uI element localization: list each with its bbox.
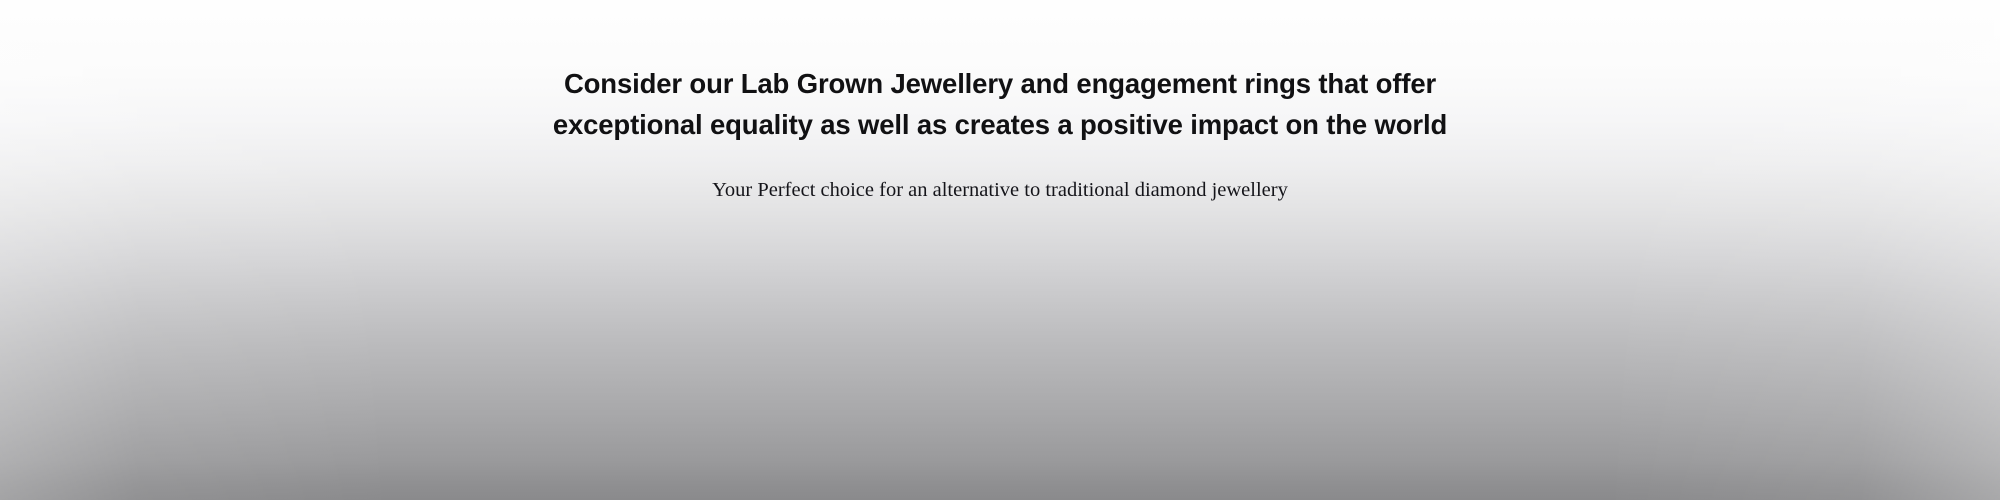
hero-banner: Consider our Lab Grown Jewellery and eng… bbox=[0, 0, 2000, 500]
hero-heading: Consider our Lab Grown Jewellery and eng… bbox=[500, 63, 1500, 145]
hero-heading-line-1: Consider our Lab Grown Jewellery and eng… bbox=[500, 63, 1500, 104]
hero-banner-inner: Consider our Lab Grown Jewellery and eng… bbox=[0, 0, 2000, 500]
hero-heading-line-2: exceptional equality as well as creates … bbox=[500, 104, 1500, 145]
hero-subheading: Your Perfect choice for an alternative t… bbox=[400, 176, 1600, 204]
